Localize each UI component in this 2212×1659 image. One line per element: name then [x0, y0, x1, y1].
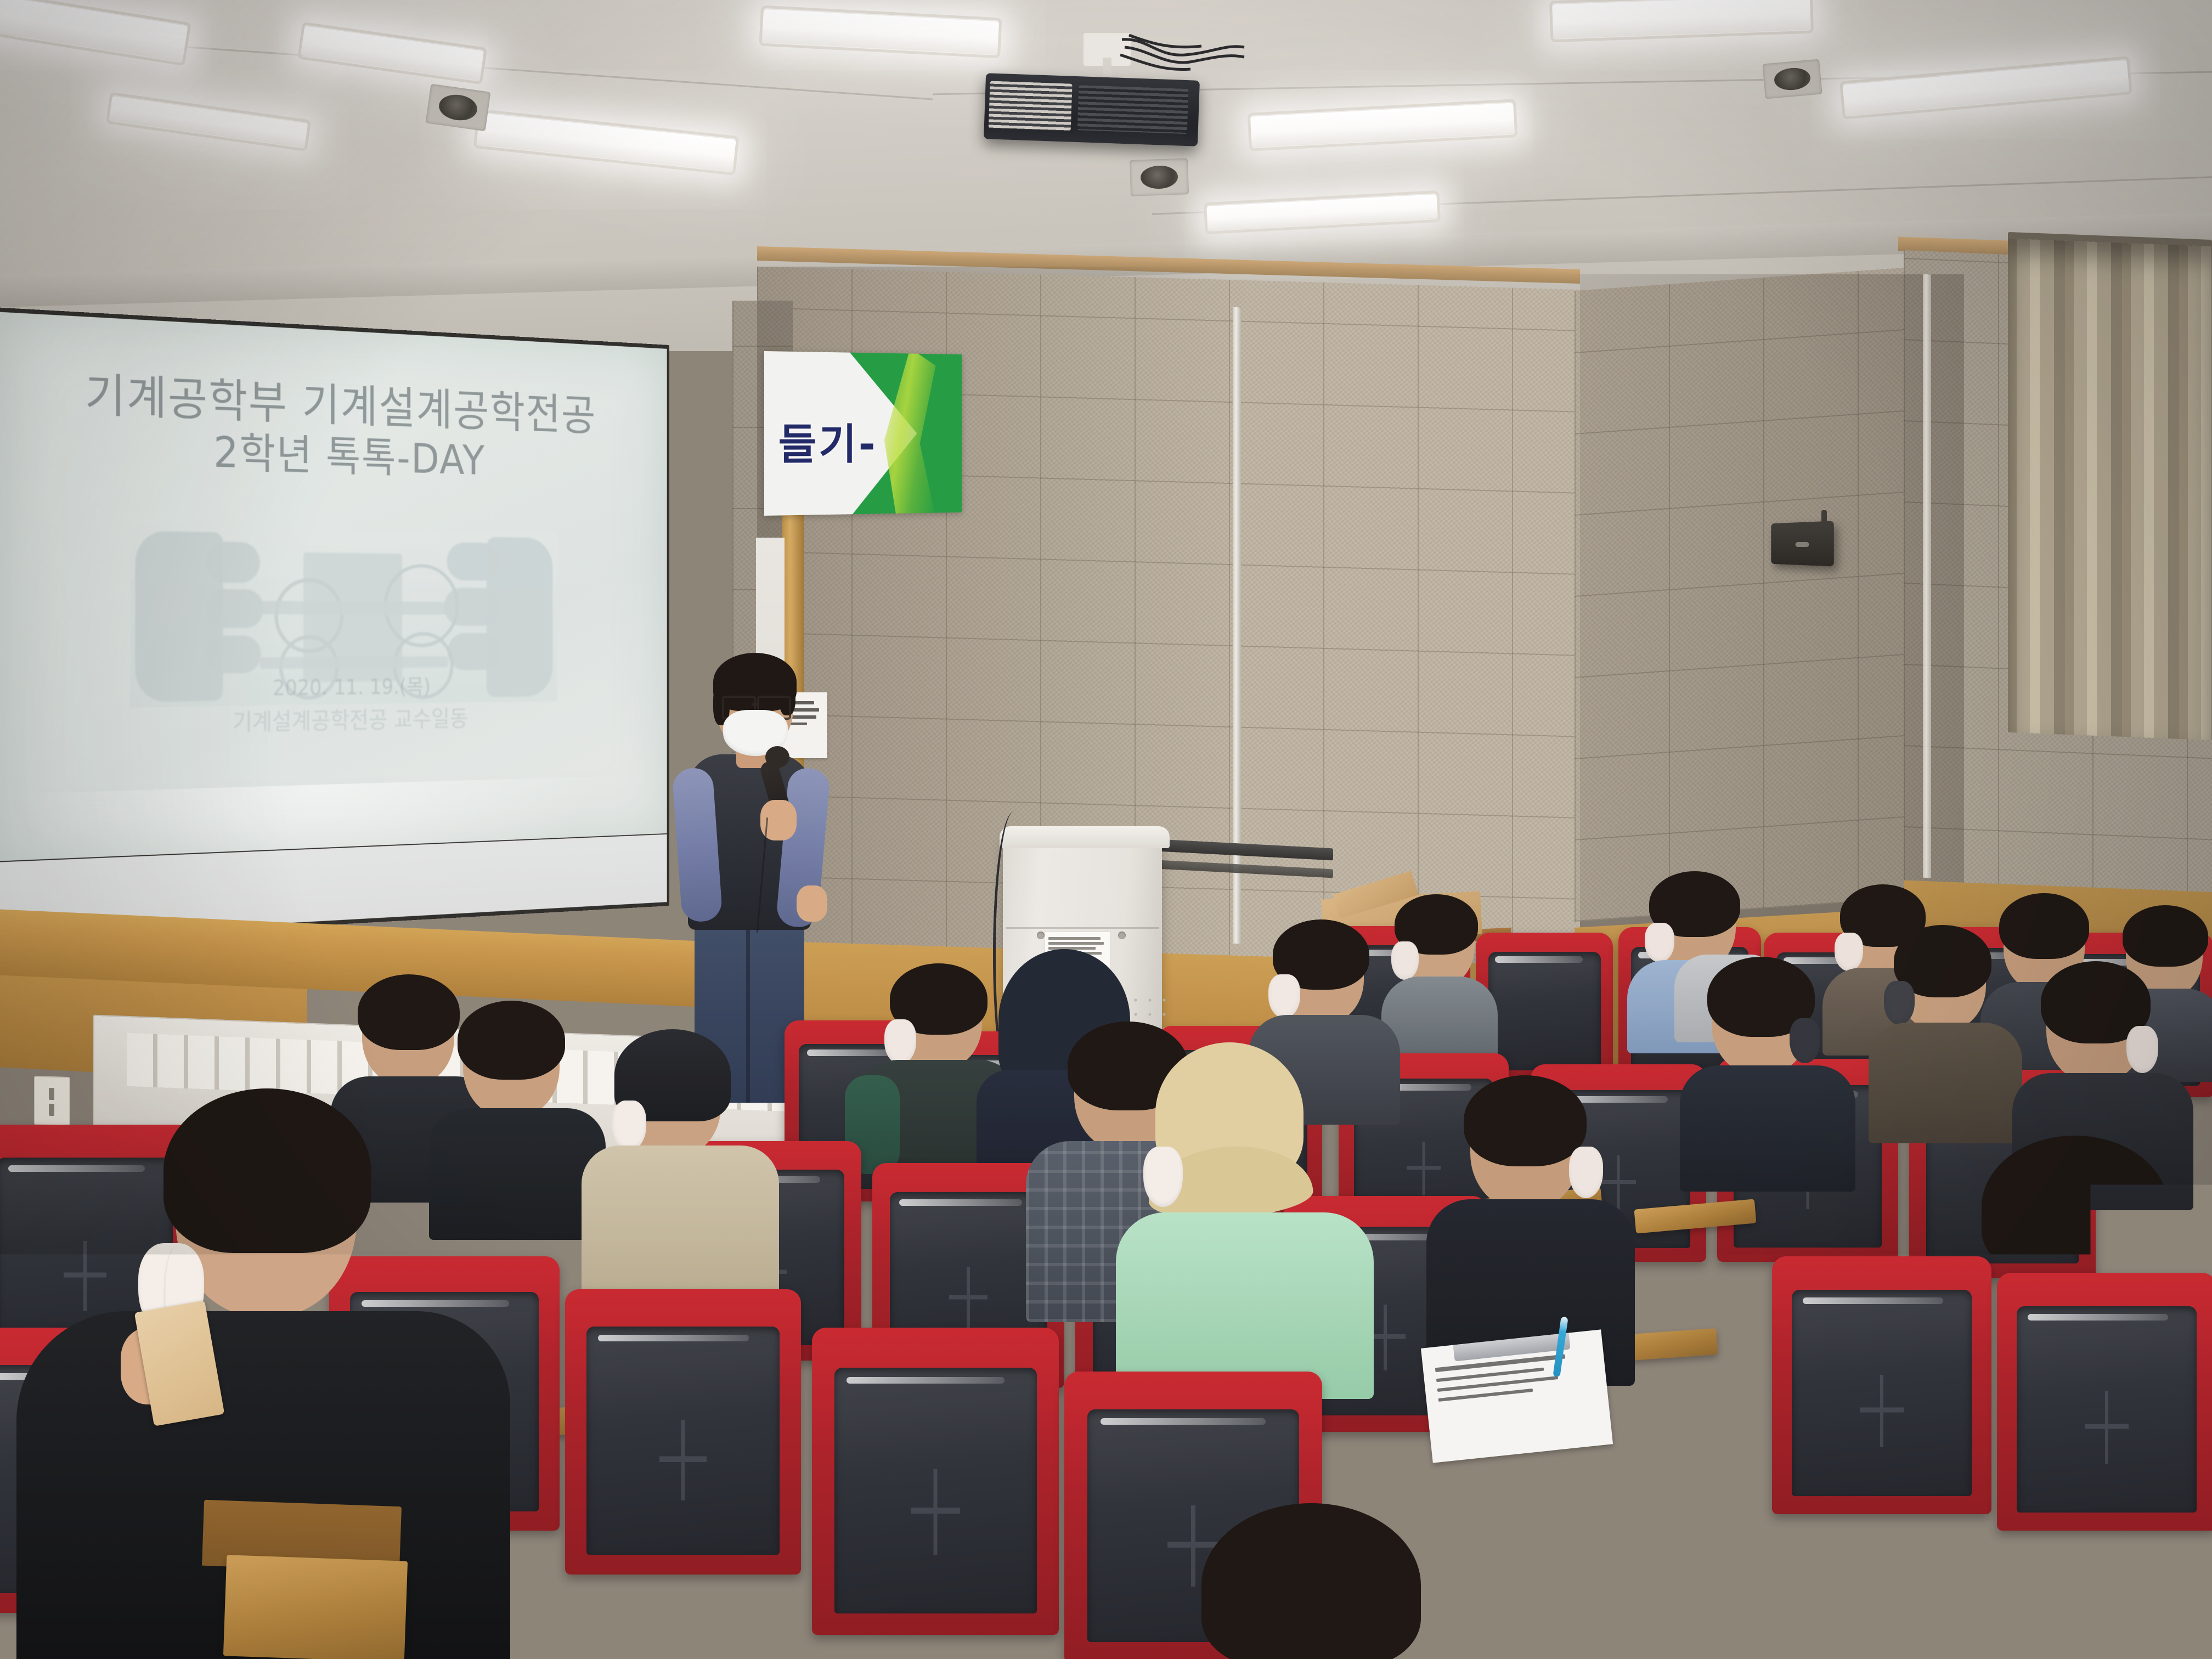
face-mask [612, 1101, 646, 1151]
banner-text: 들기- [778, 410, 878, 472]
screen-surface: 기계공학부 기계설계공학전공 2학년 톡톡-DAY [0, 312, 667, 861]
audience-torso [1680, 1065, 1855, 1192]
audience-hair [163, 1088, 371, 1253]
slide-footer: 2020. 11. 19.(목) 기계설계공학전공 교수일동 [0, 669, 667, 746]
slide-shaft [255, 601, 453, 615]
ceiling-speaker [1762, 59, 1822, 99]
audience-torso [1869, 1023, 2022, 1143]
face-mask [1391, 941, 1419, 980]
microphone-head [765, 746, 789, 768]
projector-vent [989, 81, 1073, 131]
lectern-screw [1037, 932, 1045, 939]
audience-hair [1464, 1075, 1587, 1166]
face-mask [2126, 1026, 2158, 1073]
audience-hair [1982, 1136, 2168, 1278]
projector-cables [1119, 33, 1245, 82]
audience-member [1141, 1514, 1481, 1659]
face-mask [1569, 1147, 1603, 1198]
audience-member [1383, 900, 1492, 1042]
slide-finger [206, 635, 261, 673]
audience-hair [1635, 1267, 1827, 1415]
face-mask [1884, 981, 1915, 1025]
audience-hair [458, 1001, 565, 1080]
slide-finger [448, 633, 500, 670]
audience-member [1931, 1152, 2212, 1569]
wall-outlet [34, 1076, 70, 1126]
audience-mint-top [1116, 1212, 1374, 1399]
slide-title: 기계공학부 기계설계공학전공 2학년 톡톡-DAY [0, 364, 667, 490]
slide-finger [206, 541, 260, 583]
audience-member [1690, 966, 1843, 1185]
audience-fleece-jacket [1481, 1448, 1964, 1659]
lecture-hall-photo: 기계공학부 기계설계공학전공 2학년 톡톡-DAY [0, 0, 2212, 1659]
audience-coat-beige [582, 1145, 779, 1310]
slide-shaft [260, 656, 448, 669]
audience-member-fleece [1503, 1284, 1942, 1659]
window-curtain[interactable] [2008, 239, 2212, 740]
wall-speaker [1771, 521, 1834, 566]
seat[interactable] [565, 1289, 801, 1575]
audience-member-cap [1136, 1042, 1355, 1383]
face-mask [1268, 974, 1300, 1018]
seat-tablet-arm[interactable] [223, 1555, 408, 1659]
face-mask [1645, 923, 1674, 962]
ceiling-light-fixture [1552, 0, 1811, 38]
audience-member-beanie [598, 1031, 763, 1295]
audience-hair [2123, 905, 2208, 967]
right-wall-angled [1575, 266, 1926, 922]
presenter-hand-other [797, 885, 827, 922]
ceiling-projector [984, 73, 1200, 146]
face-mask [884, 1019, 916, 1064]
lectern-screw [1118, 932, 1126, 939]
audience-member [1876, 933, 2013, 1130]
seat[interactable] [812, 1328, 1059, 1635]
face-mask [1790, 1018, 1820, 1063]
audience-hair [1201, 1503, 1421, 1659]
projector-vent [1077, 85, 1189, 134]
audience-torso [1909, 1317, 2212, 1580]
face-mask [1143, 1147, 1183, 1207]
presenter-glasses-bridge [752, 703, 758, 706]
projection-screen: 기계공학부 기계설계공학전공 2학년 톡톡-DAY [0, 307, 669, 944]
ceiling-light-fixture [762, 9, 1000, 54]
ceiling-speaker [426, 84, 491, 132]
wall-banner: 들기- [764, 351, 962, 516]
slide-finger [447, 542, 500, 581]
wall-rail-strip [1923, 274, 1931, 878]
ceiling-speaker [1130, 158, 1189, 196]
